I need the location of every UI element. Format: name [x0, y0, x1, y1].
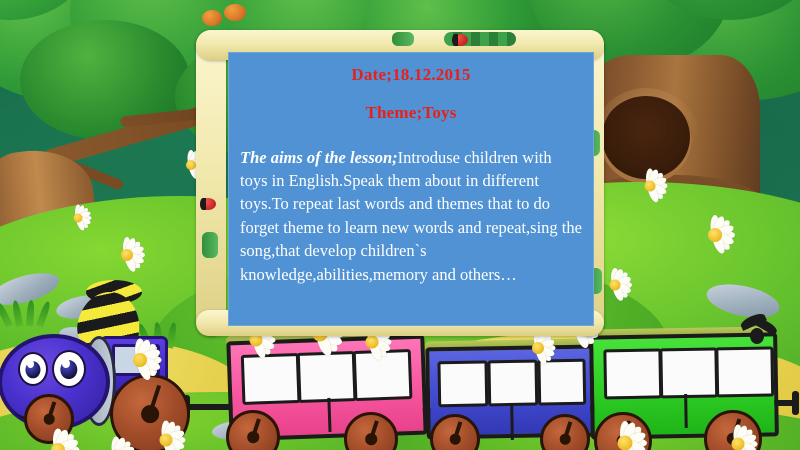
- car-window: [659, 347, 718, 398]
- car-window: [715, 346, 774, 397]
- daisy-flower-icon: [64, 204, 92, 232]
- car-door-line: [327, 398, 331, 432]
- car-window: [241, 353, 301, 405]
- frame-leaf-band: [202, 232, 218, 258]
- date-heading: Date;18.12.2015: [240, 64, 582, 85]
- daisy-flower-icon: [36, 428, 80, 450]
- ladybug-icon: [200, 198, 216, 210]
- slide-canvas: Date;18.12.2015 Theme;Toys The aims of t…: [0, 0, 800, 450]
- aims-paragraph: The aims of the lesson;Introduse childre…: [240, 146, 582, 287]
- daisy-flower-icon: [694, 214, 736, 256]
- daisy-flower-icon: [108, 236, 146, 274]
- berry-icon: [224, 4, 246, 21]
- daisy-flower-icon: [118, 338, 162, 382]
- frame-left-bar: [196, 30, 226, 336]
- aims-body: Introduse children with toys in English.…: [240, 148, 582, 284]
- theme-heading: Theme;Toys: [240, 102, 582, 123]
- daisy-flower-icon: [602, 420, 648, 450]
- lesson-text-panel: Date;18.12.2015 Theme;Toys The aims of t…: [228, 52, 594, 326]
- frame-leaf-band: [392, 32, 414, 46]
- car-window: [603, 348, 662, 399]
- daisy-flower-icon: [632, 168, 668, 204]
- berry-icon: [202, 10, 222, 26]
- daisy-flower-icon: [718, 424, 758, 450]
- car-door-line: [684, 394, 688, 428]
- car-window: [487, 360, 538, 407]
- ladybug-icon: [452, 34, 468, 46]
- loco-eye-left: [18, 352, 48, 386]
- daisy-flower-icon: [146, 420, 186, 450]
- loco-eye-right: [52, 350, 86, 388]
- car-window: [297, 351, 357, 403]
- car-window: [437, 360, 488, 407]
- aims-label: The aims of the lesson;: [240, 148, 398, 167]
- daisy-flower-icon: [96, 436, 136, 450]
- car-door-line: [510, 406, 514, 440]
